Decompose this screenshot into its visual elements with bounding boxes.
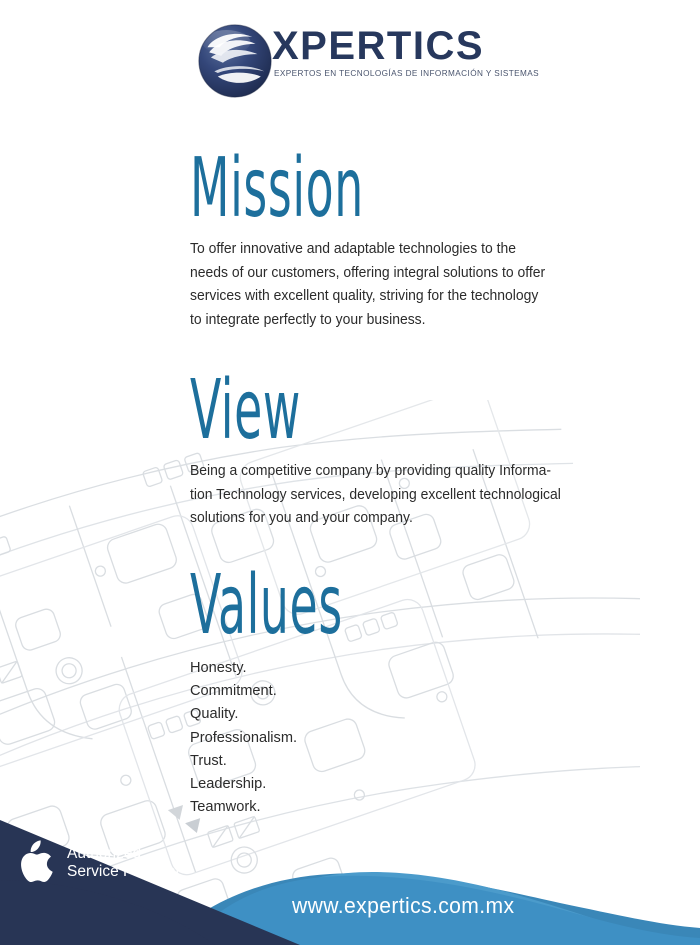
values-item: Honesty. (190, 657, 436, 680)
mission-line: needs of our customers, offering integra… (190, 262, 545, 286)
apple-badge-line1: Authorized (67, 845, 181, 864)
values-heading: Values (190, 565, 343, 647)
view-heading: View (190, 370, 431, 452)
values-list: Honesty. Commitment. Quality. Profession… (190, 657, 436, 819)
poster-content: Mission To offer innovative and adaptabl… (0, 0, 700, 945)
values-item: Commitment. (190, 680, 436, 703)
section-view: View Being a competitive company by prov… (190, 370, 578, 531)
mission-line: services with excellent quality, strivin… (190, 285, 545, 309)
mission-body: To offer innovative and adaptable techno… (190, 238, 545, 332)
view-line: solutions for you and your company. (190, 507, 561, 531)
section-values: Values Honesty. Commitment. Quality. Pro… (190, 565, 436, 819)
apple-badge-line2: Service Provider (67, 863, 181, 882)
values-item: Leadership. (190, 773, 436, 796)
website-url[interactable]: www.expertics.com.mx (292, 893, 514, 919)
mission-heading: Mission (190, 148, 421, 230)
sphere-e-logo-icon (192, 18, 278, 104)
brand-logo: XPERTICS EXPERTOS EN TECNOLOGÍAS DE INFO… (192, 18, 522, 106)
view-line: Being a competitive company by providing… (190, 460, 561, 484)
values-item: Trust. (190, 750, 436, 773)
section-mission: Mission To offer innovative and adaptabl… (190, 148, 562, 332)
apple-badge-label: Authorized Service Provider (67, 845, 181, 882)
mission-line: To offer innovative and adaptable techno… (190, 238, 545, 262)
mission-line: to integrate perfectly to your business. (190, 309, 545, 333)
values-item: Quality. (190, 703, 436, 726)
logo-tagline: EXPERTOS EN TECNOLOGÍAS DE INFORMACIÓN Y… (272, 69, 539, 78)
view-body: Being a competitive company by providing… (190, 460, 561, 531)
apple-logo-icon (16, 840, 54, 886)
poster-page: XPERTICS EXPERTOS EN TECNOLOGÍAS DE INFO… (0, 0, 700, 945)
values-item: Teamwork. (190, 796, 436, 819)
apple-authorized-badge: Authorized Service Provider (16, 840, 181, 886)
values-item: Professionalism. (190, 727, 436, 750)
logo-wordmark: XPERTICS (272, 24, 539, 68)
view-line: tion Technology services, developing exc… (190, 484, 561, 508)
